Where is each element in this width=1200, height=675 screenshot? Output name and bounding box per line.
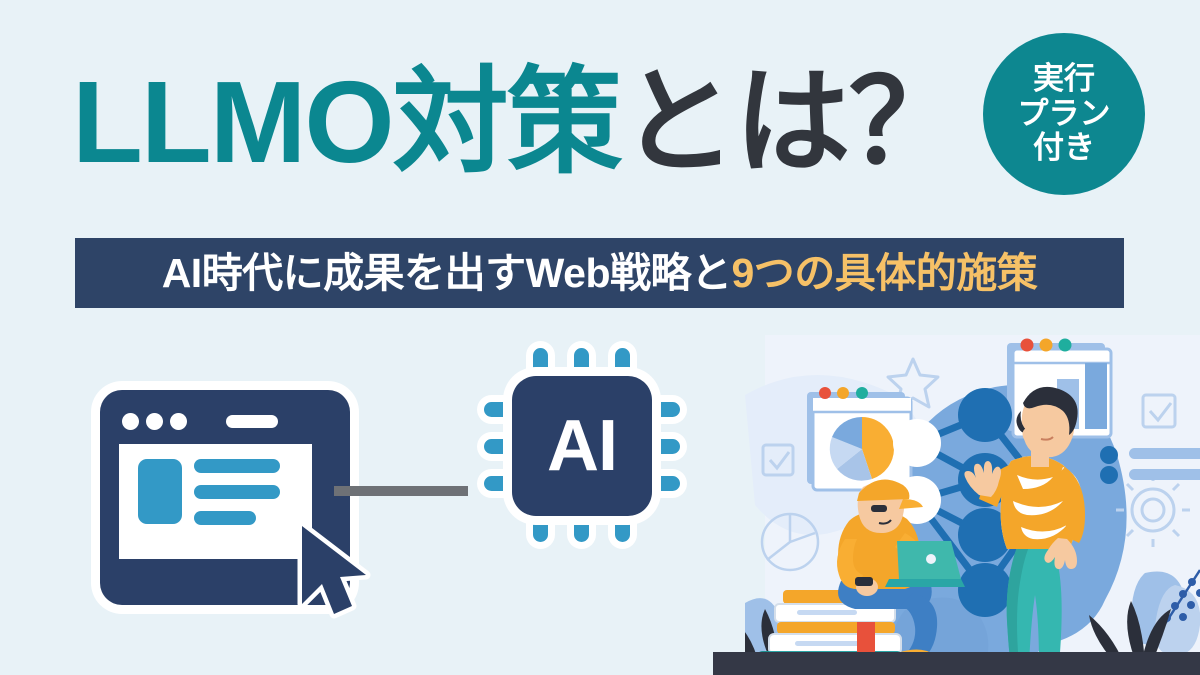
chip-label: AI [512,376,652,516]
bottom-bar [713,652,1200,675]
ai-chip-icon: AI [487,340,677,550]
browser-dot-2-icon [146,413,163,430]
browser-dot-3-icon [170,413,187,430]
browser-text-line-3 [194,511,256,525]
subtitle-bar: AI時代に成果を出すWeb戦略と9つの具体的施策 [75,238,1124,308]
status-badge: 実行 プラン 付き [983,33,1145,195]
headline-dark-part: とは？ [621,57,963,187]
browser-text-line-2 [194,485,280,499]
subtitle-gold-part: 9つの具体的施策 [732,253,1038,294]
browser-url-bar [226,415,278,428]
badge-line-3: 付き [1033,131,1095,166]
headline-teal-part: LLMO対策 [72,57,621,187]
badge-line-1: 実行 [1033,62,1095,97]
subtitle-white-part: AI時代に成果を出すWeb戦略と [162,253,732,294]
browser-image-block [138,459,182,524]
mouse-cursor-icon [294,520,374,620]
badge-line-2: プラン [1018,97,1111,132]
browser-text-line-1 [194,459,280,473]
page-title: LLMO対策とは？ [72,64,963,180]
ai-people-illustration [745,335,1200,675]
poster-canvas: LLMO対策とは？ 実行 プラン 付き AI時代に成果を出すWeb戦略と9つの具… [0,0,1200,675]
connector-cable [334,486,468,496]
browser-dot-1-icon [122,413,139,430]
